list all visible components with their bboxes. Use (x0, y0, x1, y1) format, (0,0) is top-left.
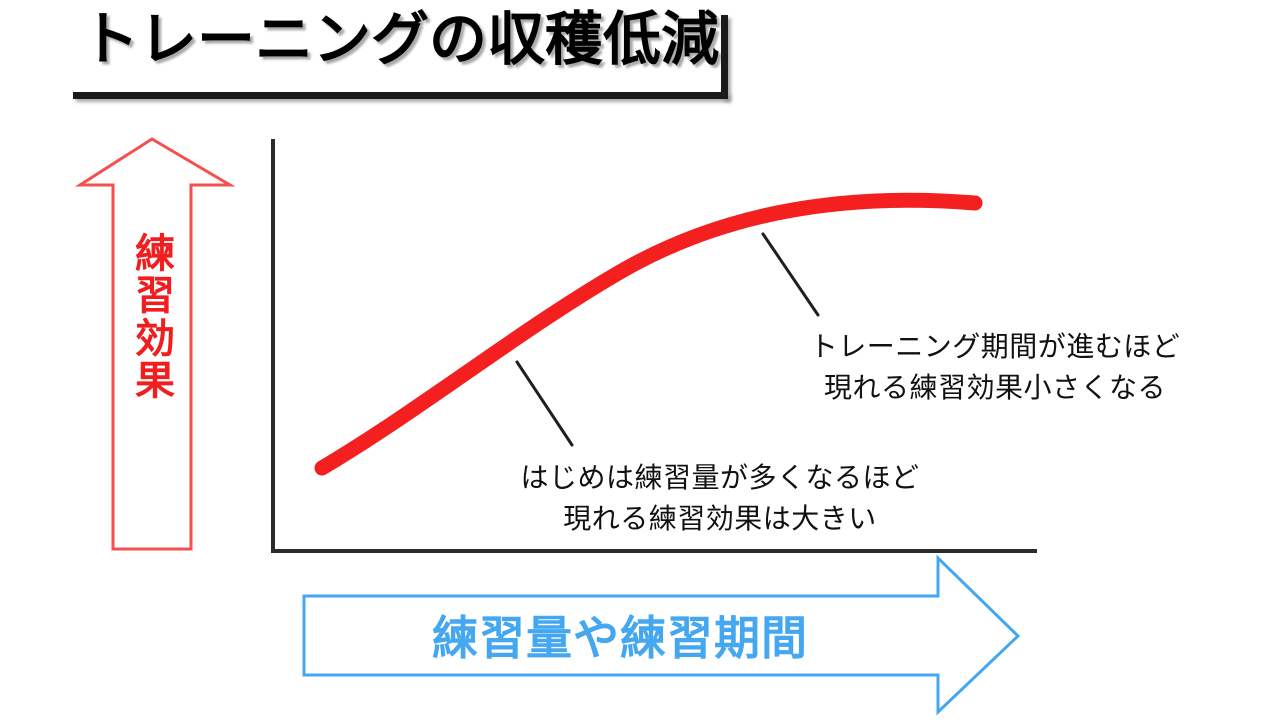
annotation-late-phase: トレーニング期間が進むほど 現れる練習効果小さくなる (760, 327, 1230, 408)
leader-line-late (763, 234, 818, 315)
x-axis-arrow-label: 練習量や練習期間 (300, 602, 940, 668)
x-axis-arrow: 練習量や練習期間 (300, 552, 1024, 718)
slide-canvas: トレーニングの収穫低減 練 習 効 果 練習量や練習期間 トレーニング期間が進む… (0, 0, 1280, 720)
chart-y-axis-line (271, 139, 275, 553)
title-block: トレーニングの収穫低減 (73, 8, 733, 108)
page-title: トレーニングの収穫低減 (81, 10, 719, 71)
y-axis-arrow-label: 練 習 効 果 (74, 233, 236, 403)
title-vertical-bar (721, 15, 728, 99)
title-underline-rule (73, 92, 728, 99)
annotation-early-phase: はじめは練習量が多くなるほど 現れる練習効果は大きい (470, 458, 970, 539)
y-axis-arrow: 練 習 効 果 (74, 133, 236, 555)
leader-line-early (517, 362, 572, 445)
